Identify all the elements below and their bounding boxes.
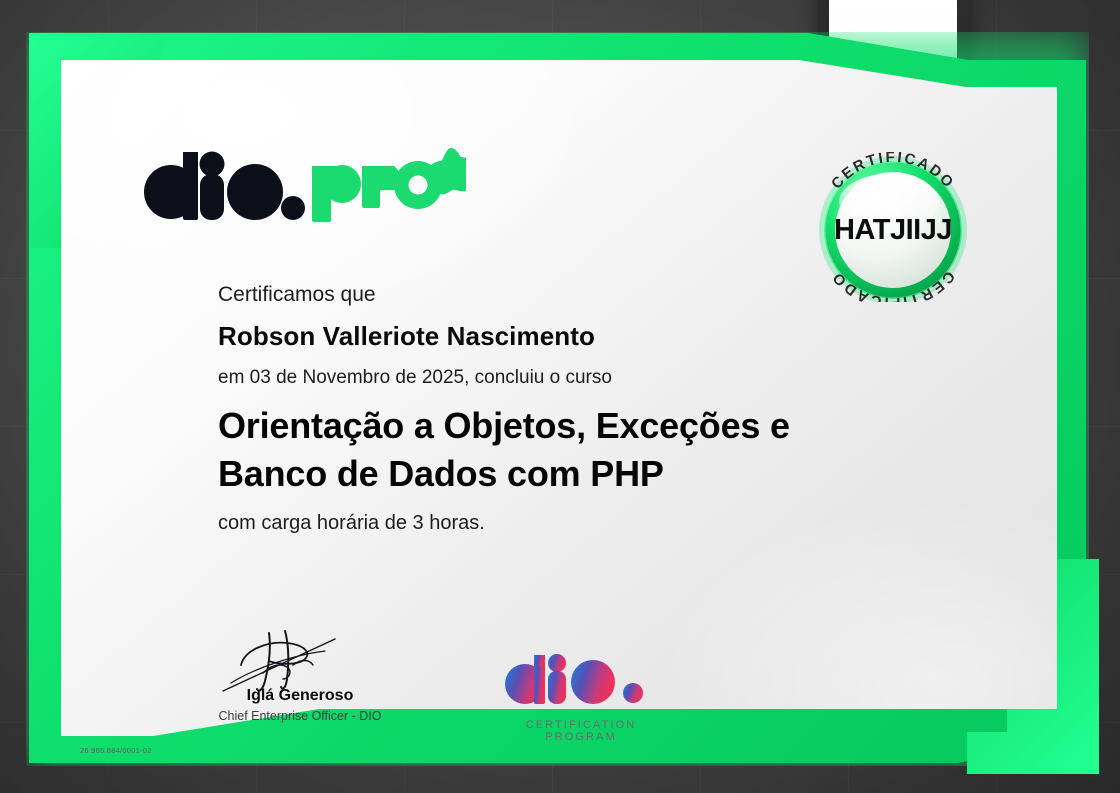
course-title: Orientação a Objetos, Exceções e Banco d… <box>218 402 908 498</box>
dio-pro-logo <box>136 140 466 222</box>
certificate-seal: CERTIFICADO CERTIFICADO HATJIIJJ <box>803 152 983 302</box>
signature-block: Iglá Generoso Chief Enterprise Officer -… <box>201 625 399 723</box>
registration-number: 26.965.884/0001-02 <box>80 746 152 755</box>
certificate-card: Certificamos que Robson Valleriote Nasci… <box>18 22 1100 774</box>
certification-program-caption: CERTIFICATION PROGRAM <box>493 719 669 743</box>
certification-program-logo: CERTIFICATION PROGRAM <box>493 648 669 743</box>
logo-pro-accent <box>312 161 442 222</box>
seal-code: HATJIIJJ <box>803 214 983 247</box>
intro-line: Certificamos que <box>218 283 376 307</box>
logo-dio-dark <box>144 152 305 221</box>
signature-role: Chief Enterprise Officer - DIO <box>201 709 399 723</box>
signature-mark <box>201 625 399 691</box>
workload-line: com carga horária de 3 horas. <box>218 512 485 535</box>
recipient-name: Robson Valleriote Nascimento <box>218 321 595 352</box>
certificate-stage: Certificamos que Robson Valleriote Nasci… <box>0 0 1120 793</box>
date-line: em 03 de Novembro de 2025, concluiu o cu… <box>218 367 612 389</box>
